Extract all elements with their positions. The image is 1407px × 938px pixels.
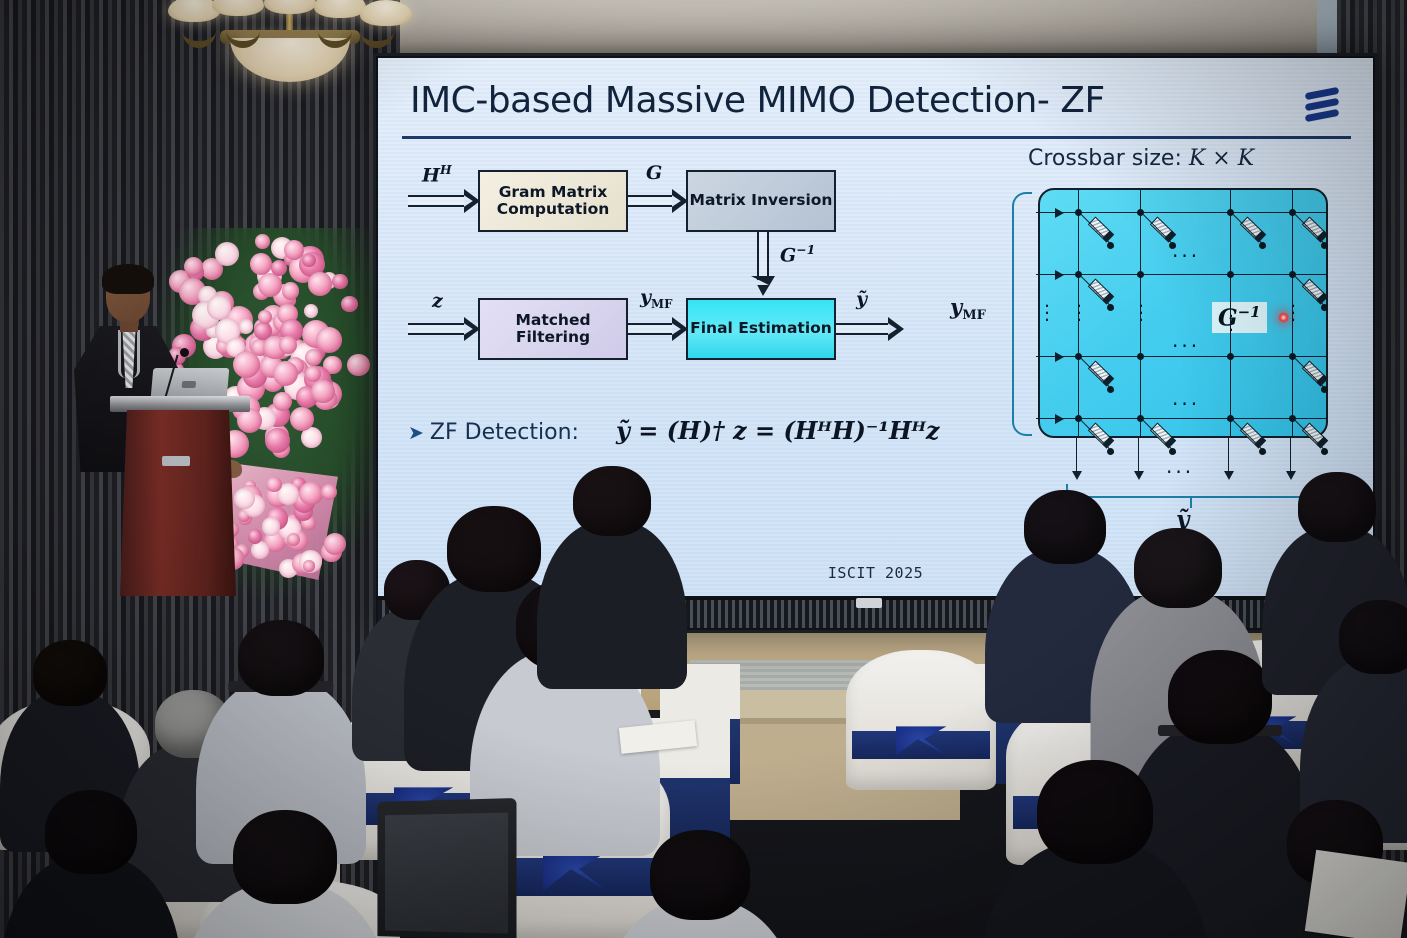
crossbar-center-label: G−1 [1212,302,1267,333]
crossbar-junction-node [1107,242,1114,249]
crossbar-input-ellipsis: ... [1044,298,1050,319]
flower-bloom [303,560,314,571]
signal-label-G-inverse: G−1 [780,242,815,266]
flow-box-matched-filtering: MatchedFiltering [478,298,628,360]
crossbar-vertical-ellipsis: ... [1228,308,1234,329]
crossbar-junction-node [1321,386,1328,393]
crossbar-junction-node [1137,353,1144,360]
crossbar-row-line [1040,212,1326,213]
zf-detection-label: ZF Detection: [430,420,579,445]
audience-member [537,466,687,676]
laser-pointer-dot [1278,312,1289,323]
audience-laptop [377,798,516,938]
crossbar-ellipsis: ... [1172,386,1200,410]
crossbar-output-arrow [1076,438,1077,478]
crossbar-output-arrow [1228,438,1229,478]
arrow-inversion-to-final [752,232,774,298]
crossbar-input-arrow [1036,274,1062,275]
audience-head [238,620,324,696]
audience-member [980,760,1210,938]
crossbar-title: Crossbar size: K × K [1028,146,1254,171]
memristor-cell [1302,361,1328,387]
microphone-icon [180,348,189,357]
arrow-input-to-gram [408,190,480,212]
flower-bloom [239,319,254,334]
flower-bloom [233,351,260,378]
crossbar-junction-node [1227,353,1234,360]
crossbar-input-label: yMF [950,294,986,323]
crossbar-junction-node [1137,271,1144,278]
audience-head [33,640,107,706]
memristor-cell [1150,423,1176,449]
flower-bloom [262,517,281,536]
crossbar-output-arrow [1138,438,1139,478]
crossbar-vertical-ellipsis: ... [1290,298,1296,319]
audience-head [1298,472,1376,542]
memristor-cell [1302,217,1328,243]
flower-bloom [304,304,318,318]
arrow-input-to-matched-filter [408,318,480,340]
flower-bloom [308,272,332,296]
crossbar-junction-node [1259,242,1266,249]
flow-diagram: HH Gram MatrixComputation G Matrix Inver… [408,158,908,388]
crossbar-junction-node [1321,304,1328,311]
crossbar-junction-node [1107,386,1114,393]
crossbar-output-ellipsis: ... [1166,454,1194,478]
speaker-podium [110,396,250,596]
audience-head [45,790,137,874]
flower-bloom [347,354,369,376]
crossbar-array: G−1 ..................... [1038,188,1328,438]
crossbar-row-line [1040,418,1326,419]
memristor-cell [1240,217,1266,243]
crossbar-junction-node [1321,448,1328,455]
memristor-cell [1240,423,1266,449]
flow-box-matrix-inversion: Matrix Inversion [686,170,836,232]
paper-sheet [1305,850,1407,938]
audience-head [573,466,651,536]
flower-bloom [290,407,314,431]
audience-member [1300,600,1407,830]
flower-bloom [324,533,346,555]
signal-label-y-mf: yMF [640,286,672,311]
crossbar-input-brace [1012,192,1032,436]
flower-bloom [305,366,321,382]
arrow-mf-to-final [628,318,688,340]
memristor-cell [1088,279,1114,305]
signal-label-z: z [432,290,443,312]
flower-bloom [265,428,290,453]
audience-head [650,830,750,920]
flower-bloom [316,327,342,353]
zf-detection-line: ➤ZF Detection: ỹ = (H)† z = (HᴴH)⁻¹Hᴴz [408,416,940,445]
audience-member [600,830,800,938]
audience-head [1037,760,1153,864]
memristor-cell [1302,423,1328,449]
memristor-cell [1302,279,1328,305]
audience-head [1168,650,1272,744]
crossbar-junction-node [1107,448,1114,455]
audience-chair [846,650,996,790]
crossbar-input-arrow [1036,418,1062,419]
flow-box-final-estimation: Final Estimation [686,298,836,360]
ericsson-logo [1303,88,1343,122]
arrow-final-output [836,318,904,340]
crossbar-input-arrow [1036,212,1062,213]
flow-box-gram-matrix: Gram MatrixComputation [478,170,628,232]
audience-torso [537,521,687,689]
slide-title: IMC-based Massive MIMO Detection- ZF [410,80,1105,121]
arrow-gram-to-inversion [628,190,688,212]
audience-member [180,810,390,938]
flower-bloom [341,296,358,313]
crossbar-input-arrow [1036,356,1062,357]
title-divider [402,136,1351,139]
signal-label-G: G [646,162,662,184]
signal-label-H-hermitian: HH [422,162,452,186]
crossbar-junction-node [1259,448,1266,455]
flower-bloom [215,242,239,266]
crossbar-junction-node [1227,271,1234,278]
audience-head [1134,528,1222,608]
audience-head [1339,600,1407,674]
flower-bloom [207,295,231,319]
presenter-laptop [151,368,230,398]
crossbar-vertical-ellipsis: ... [1076,298,1082,319]
zf-equation: ỹ = (H)† z = (HᴴH)⁻¹Hᴴz [616,416,940,445]
crossbar-junction-node [1107,304,1114,311]
crossbar-row-line [1040,356,1326,357]
audience-member [1,790,181,938]
memristor-cell [1088,217,1114,243]
flower-bloom [302,254,316,268]
memristor-cell [1088,423,1114,449]
crossbar-ellipsis: ... [1172,238,1200,262]
signal-label-y-tilde: ỹ [856,288,867,310]
screenshot-root: IMC-based Massive MIMO Detection- ZF HH … [0,0,1407,938]
crossbar-ellipsis: ... [1172,328,1200,352]
memristor-cell [1088,361,1114,387]
audience-head [233,810,337,904]
crossbar-vertical-ellipsis: ... [1138,298,1144,319]
flower-bloom [273,392,292,411]
crossbar-row-line [1040,274,1326,275]
flower-bloom [255,234,270,249]
crossbar-junction-node [1321,242,1328,249]
bullet-icon: ➤ [408,422,424,444]
flower-bloom [311,380,334,403]
